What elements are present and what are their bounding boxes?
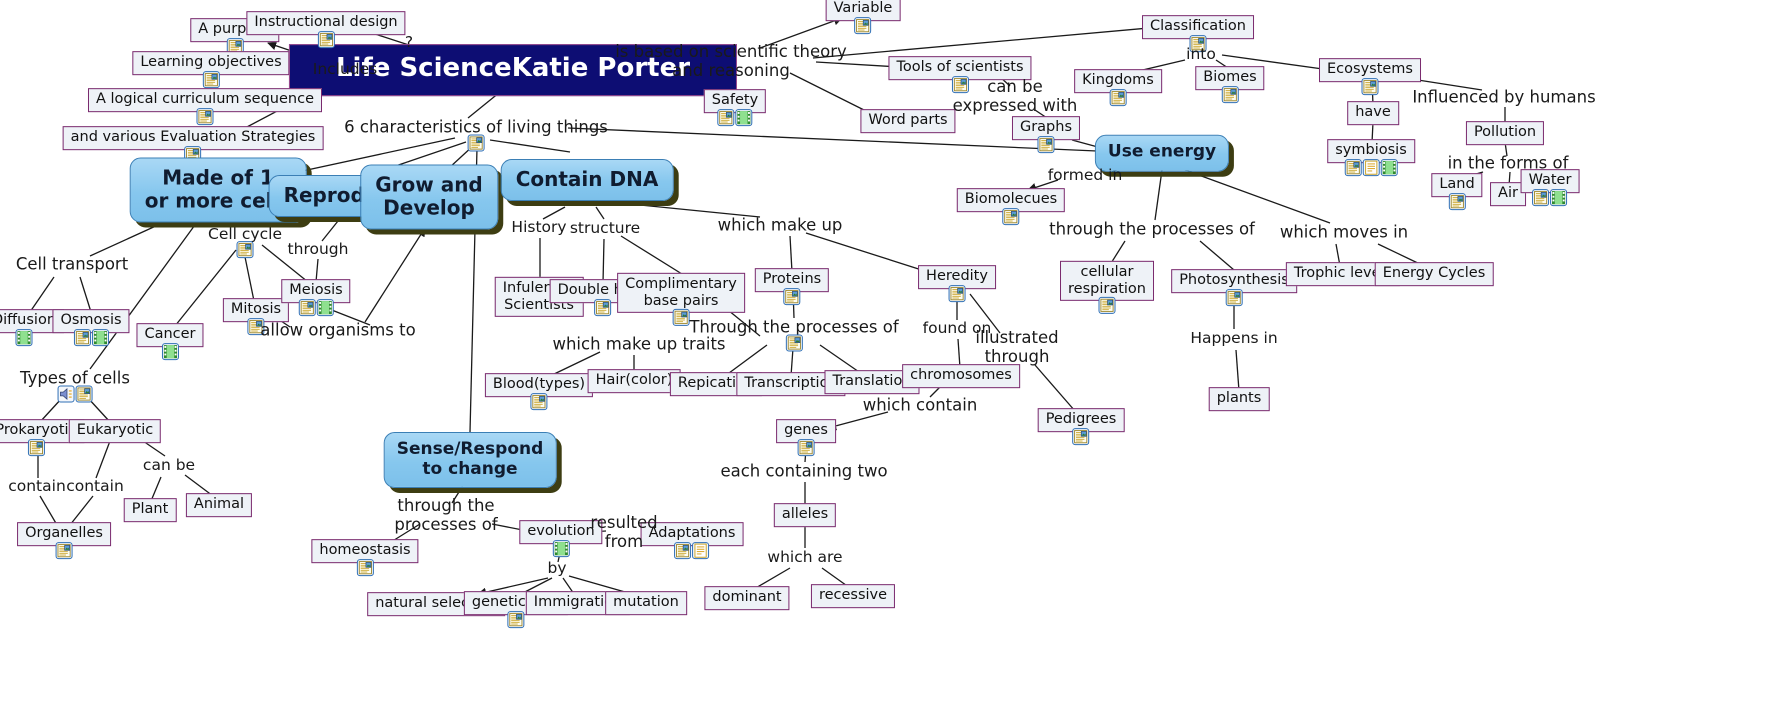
node-learning-objectives[interactable]: Learning objectives [132, 51, 289, 75]
node-label: Meiosis [289, 282, 342, 299]
node-icon-strip [27, 439, 44, 456]
node-cellular-respiration[interactable]: cellularrespiration [1060, 261, 1154, 301]
picture-note-icon[interactable] [299, 299, 316, 316]
link-phrase-which-contain[interactable]: which contain [863, 397, 978, 416]
node-icon-strip [1344, 159, 1397, 176]
film-icon[interactable] [162, 343, 179, 360]
link-phrase-cell-transport[interactable]: Cell transport [16, 256, 128, 275]
node-label: Cancer [144, 326, 195, 343]
node-label: Hair(color) [596, 372, 673, 389]
node-hair-color[interactable]: Hair(color) [588, 369, 681, 393]
phrase-label: contain [66, 478, 124, 496]
phrase-label: into [1186, 46, 1216, 64]
link-phrase-can-be-expressed[interactable]: can beexpressed with [953, 78, 1078, 116]
node-label: Energy Cycles [1383, 265, 1486, 282]
node-energy-cycles[interactable]: Energy Cycles [1375, 262, 1494, 286]
link-phrase-which-are[interactable]: which are [767, 549, 842, 567]
node-label: Classification [1150, 18, 1246, 35]
link-phrase-allow-organisms-to[interactable]: allow organisms to [260, 322, 415, 341]
node-label: symbiosis [1335, 142, 1407, 159]
node-icon-strip [73, 329, 108, 346]
node-plant[interactable]: Plant [124, 498, 177, 522]
speaker-icon[interactable] [57, 385, 74, 402]
node-label: Biomes [1203, 69, 1256, 86]
phrase-label: illustratedthrough [975, 329, 1058, 367]
link-phrase-includes[interactable]: Includes [313, 61, 378, 79]
link-phrase-in-the-forms-of[interactable]: in the forms of [1448, 155, 1569, 174]
link-phrase-happens-in[interactable]: Happens in [1190, 330, 1277, 348]
film-icon[interactable] [16, 329, 33, 346]
phrase-label: can be [143, 457, 195, 475]
node-evaluation-strategies[interactable]: and various Evaluation Strategies [63, 126, 324, 150]
picture-note-icon[interactable] [1098, 297, 1115, 314]
node-label: Variable [834, 0, 893, 17]
node-label: Blood(types) [493, 376, 585, 393]
picture-note-icon[interactable] [1226, 289, 1243, 306]
picture-note-icon[interactable] [1110, 89, 1127, 106]
edge-contain-right-to-organelles [70, 496, 93, 525]
node-eukaryotic[interactable]: Eukaryotic [69, 419, 161, 443]
node-photosynthesis[interactable]: Photosynthesis [1171, 269, 1297, 293]
node-organelles[interactable]: Organelles [17, 522, 111, 546]
node-icon-strip [553, 540, 570, 557]
node-label: have [1355, 104, 1391, 121]
phrase-label: each containing two [720, 463, 887, 482]
node-icon-strip [1098, 297, 1115, 314]
edge-cell-transport-to-osmosis [80, 277, 91, 312]
node-label: and various Evaluation Strategies [71, 129, 316, 146]
node-icon-strip [1110, 89, 1127, 106]
node-icon-strip [467, 134, 484, 151]
picture-note-icon[interactable] [531, 393, 548, 410]
phrase-label: Influenced by humans [1412, 89, 1595, 108]
node-icon-strip [595, 299, 612, 316]
node-icon-strip [57, 385, 92, 402]
link-phrase-illustrated-through[interactable]: illustratedthrough [975, 329, 1058, 367]
node-icon-strip [1073, 428, 1090, 445]
node-icon-strip [357, 559, 374, 576]
link-phrase-contain-right[interactable]: contain [66, 478, 124, 496]
picture-note-icon[interactable] [1037, 136, 1054, 153]
node-label: Photosynthesis [1179, 272, 1289, 289]
node-kingdoms[interactable]: Kingdoms [1074, 69, 1162, 93]
node-label: Animal [194, 496, 244, 513]
link-phrase-based-on-theory[interactable]: is based on scientific theoryand reasoni… [615, 43, 847, 81]
film-icon[interactable] [317, 299, 334, 316]
node-label: Diffusion [0, 312, 56, 329]
node-label: genes [784, 422, 828, 439]
edge-eukaryotic-to-can-be [143, 441, 165, 456]
node-classification[interactable]: Classification [1142, 15, 1254, 39]
node-label: mutation [613, 594, 679, 611]
node-label: Proteins [763, 271, 821, 288]
node-label: Sense/Respondto change [397, 440, 544, 479]
picture-note-icon[interactable] [1361, 78, 1378, 95]
link-phrase-influenced-by-humans[interactable]: Influenced by humans [1412, 89, 1595, 108]
picture-note-icon[interactable] [357, 559, 374, 576]
node-icon-strip [797, 439, 814, 456]
link-phrase-through[interactable]: through [288, 241, 349, 259]
link-phrase-types-of-cells[interactable]: Types of cells [20, 370, 130, 389]
node-label: Use energy [1108, 143, 1216, 163]
node-icon-strip [786, 334, 803, 351]
node-icon-strip [1361, 78, 1378, 95]
node-label: recessive [819, 587, 887, 604]
picture-note-icon[interactable] [1221, 86, 1238, 103]
phrase-label: by [547, 560, 566, 578]
phrase-label: formed in [1048, 167, 1123, 185]
node-label: cellularrespiration [1068, 264, 1146, 297]
film-icon[interactable] [1380, 159, 1397, 176]
node-label: Contain DNA [516, 168, 659, 191]
phrase-label: History [511, 219, 566, 237]
node-dominant[interactable]: dominant [704, 586, 789, 610]
picture-note-icon[interactable] [717, 109, 734, 126]
node-label: Adaptations [649, 525, 736, 542]
node-label: evolution [527, 523, 594, 540]
node-icon-strip [202, 71, 219, 88]
phrase-label: structure [570, 220, 640, 238]
node-recessive[interactable]: recessive [811, 584, 895, 608]
node-label: Heredity [926, 268, 988, 285]
link-phrase-history[interactable]: History [511, 219, 566, 237]
link-phrase-by[interactable]: by [547, 560, 566, 578]
phrase-label: through the processes of [1049, 221, 1255, 240]
picture-note-icon[interactable] [27, 439, 44, 456]
node-label: Kingdoms [1082, 72, 1154, 89]
phrase-label: Cell transport [16, 256, 128, 275]
node-biomolecues[interactable]: Biomolecues [957, 188, 1065, 212]
phrase-label: which are [767, 549, 842, 567]
phrase-label: is based on scientific theoryand reasoni… [615, 43, 847, 81]
node-icon-strip [196, 108, 213, 125]
edge-eukaryotic-to-contain-right [96, 441, 110, 478]
edge-six-characteristics-to-contain-dna [490, 140, 570, 152]
picture-note-icon[interactable] [797, 439, 814, 456]
node-sense-respond[interactable]: Sense/Respondto change [384, 432, 557, 488]
picture-note-icon[interactable] [55, 542, 72, 559]
phrase-label: which make up [718, 217, 843, 236]
link-phrase-contain-left[interactable]: contain [8, 478, 66, 496]
picture-note-icon[interactable] [1003, 208, 1020, 225]
link-phrase-each-containing-two[interactable]: each containing two [720, 463, 887, 482]
node-icon-strip [855, 17, 872, 34]
node-label: Biomolecues [965, 191, 1057, 208]
edge-use-energy-to-through-processes-of [1155, 170, 1162, 220]
phrase-label: which contain [863, 397, 978, 416]
edge-happens-in-to-plants [1236, 350, 1239, 391]
node-label: Complimentarybase pairs [625, 276, 737, 309]
node-homeostasis[interactable]: homeostasis [311, 539, 418, 563]
link-phrase-through-the-processes-of-proteins[interactable]: Through the processes of [689, 319, 898, 338]
link-phrase-cell-cycle[interactable]: Cell cycle [208, 226, 282, 244]
picture-note-icon[interactable] [507, 611, 524, 628]
node-osmosis[interactable]: Osmosis [52, 309, 129, 333]
node-label: Word parts [868, 112, 947, 129]
picture-note-icon[interactable] [672, 309, 689, 326]
node-label: Learning objectives [140, 54, 281, 71]
node-chromosomes[interactable]: chromosomes [902, 364, 1020, 388]
link-phrase-through-processes-of[interactable]: through the processes of [1049, 221, 1255, 240]
node-icon-strip [1448, 193, 1465, 210]
node-label: Water [1529, 172, 1572, 189]
node-label: A logical curriculum sequence [96, 91, 314, 108]
picture-note-icon[interactable] [786, 334, 803, 351]
node-icon-strip [162, 343, 179, 360]
node-label: chromosomes [910, 367, 1012, 384]
edge-cell-transport-to-diffusion [30, 277, 54, 312]
link-phrase-q-mark[interactable]: ? [405, 34, 413, 52]
edge-cell-cycle-to-mitosis [244, 252, 254, 301]
edge-contain-left-to-organelles [40, 496, 57, 525]
picture-note-icon[interactable] [595, 299, 612, 316]
link-phrase-which-make-up-traits[interactable]: which make up traits [552, 336, 725, 355]
node-icon-strip [783, 288, 800, 305]
concept-map-canvas: Life ScienceKatie PorterA purposeInstruc… [0, 0, 1788, 717]
node-icon-strip [1003, 208, 1020, 225]
picture-note-icon[interactable] [1344, 159, 1361, 176]
link-phrase-structure[interactable]: structure [570, 220, 640, 238]
edge-reproduce-to-through [322, 221, 338, 241]
node-label: Tools of scientists [896, 59, 1023, 76]
picture-note-icon[interactable] [75, 385, 92, 402]
node-icon-strip [717, 109, 752, 126]
node-icon-strip [16, 329, 33, 346]
edge-illustrated-through-to-pedigrees [1035, 365, 1075, 411]
edge-which-make-up-to-proteins [790, 236, 792, 272]
node-instructional-design[interactable]: Instructional design [246, 11, 405, 35]
picture-note-icon[interactable] [1533, 189, 1550, 206]
node-symbiosis[interactable]: symbiosis [1327, 139, 1415, 163]
node-label: Mitosis [231, 301, 281, 318]
node-heredity[interactable]: Heredity [918, 265, 996, 289]
phrase-label: in the forms of [1448, 155, 1569, 174]
picture-note-icon[interactable] [855, 17, 872, 34]
picture-note-icon[interactable] [202, 71, 219, 88]
node-icon-strip [531, 393, 548, 410]
node-biomes[interactable]: Biomes [1195, 66, 1264, 90]
edge-through-processes-of-to-photosynthesis [1200, 241, 1234, 270]
edge-structure-to-double-helix [603, 239, 604, 283]
phrase-label: through [288, 241, 349, 259]
node-icon-strip [299, 299, 334, 316]
node-graphs[interactable]: Graphs [1012, 116, 1080, 140]
link-phrase-into[interactable]: into [1186, 46, 1216, 64]
node-have[interactable]: have [1347, 101, 1399, 125]
node-icon-strip [507, 611, 524, 628]
node-icon-strip [672, 309, 689, 326]
phrase-label: contain [8, 478, 66, 496]
phrase-label: ? [405, 34, 413, 52]
node-pollution[interactable]: Pollution [1466, 121, 1544, 145]
picture-note-icon[interactable] [783, 288, 800, 305]
node-label: Air [1498, 185, 1518, 202]
node-icon-strip [1533, 189, 1568, 206]
node-safety[interactable]: Safety [704, 89, 766, 113]
node-meiosis[interactable]: Meiosis [281, 279, 350, 303]
node-label: Graphs [1020, 119, 1072, 136]
film-icon[interactable] [553, 540, 570, 557]
node-animal[interactable]: Animal [186, 493, 252, 517]
picture-note-icon[interactable] [1073, 428, 1090, 445]
node-icon-strip [317, 31, 334, 48]
picture-note-icon[interactable] [237, 241, 254, 258]
node-label: Safety [712, 92, 758, 109]
node-label: Pedigrees [1046, 411, 1117, 428]
phrase-label: can beexpressed with [953, 78, 1078, 116]
phrase-label: which make up traits [552, 336, 725, 355]
link-phrase-resulted-from[interactable]: resultedfrom [590, 514, 657, 552]
node-pedigrees[interactable]: Pedigrees [1038, 408, 1125, 432]
phrase-label: Happens in [1190, 330, 1277, 348]
node-ecosystems[interactable]: Ecosystems [1319, 58, 1421, 82]
node-label: Translation [832, 373, 911, 390]
picture-note-icon[interactable] [73, 329, 90, 346]
node-label: Eukaryotic [77, 422, 153, 439]
text-note-icon[interactable] [1362, 159, 1379, 176]
node-icon-strip [948, 285, 965, 302]
node-label: Prokaryotic [0, 422, 77, 439]
node-label: Plant [132, 501, 169, 518]
node-plants[interactable]: plants [1209, 387, 1270, 411]
picture-note-icon[interactable] [674, 542, 691, 559]
node-icon-strip [55, 542, 72, 559]
node-label: Grow andDevelop [375, 174, 483, 220]
edge-contain-dna-to-structure [596, 207, 604, 219]
link-phrase-six-characteristics[interactable]: 6 characteristics of living things [344, 119, 608, 138]
text-note-icon[interactable] [692, 542, 709, 559]
node-label: Ecosystems [1327, 61, 1413, 78]
node-icon-strip [237, 241, 254, 258]
node-label: dominant [712, 589, 781, 606]
picture-note-icon[interactable] [196, 108, 213, 125]
node-icon-strip [674, 542, 709, 559]
node-cancer[interactable]: Cancer [136, 323, 203, 347]
phrase-label: through theprocesses of [394, 497, 497, 535]
phrase-label: which moves in [1280, 224, 1408, 243]
phrase-label: allow organisms to [260, 322, 415, 341]
node-logical-curriculum[interactable]: A logical curriculum sequence [88, 88, 322, 112]
node-mutation[interactable]: mutation [605, 591, 687, 615]
link-phrase-which-moves-in[interactable]: which moves in [1280, 224, 1408, 243]
node-label: Instructional design [254, 14, 397, 31]
node-complimentary-base-pairs[interactable]: Complimentarybase pairs [617, 273, 745, 313]
picture-note-icon[interactable] [317, 31, 334, 48]
link-phrase-through-the-processes-of-sense[interactable]: through theprocesses of [394, 497, 497, 535]
picture-note-icon[interactable] [1448, 193, 1465, 210]
node-label: Osmosis [60, 312, 121, 329]
link-phrase-can-be[interactable]: can be [143, 457, 195, 475]
edge-allow-organisms-to-to-grow-and-develop [365, 228, 425, 322]
node-variable[interactable]: Variable [826, 0, 901, 21]
node-label: plants [1217, 390, 1262, 407]
node-label: homeostasis [319, 542, 410, 559]
film-icon[interactable] [1551, 189, 1568, 206]
node-blood-types[interactable]: Blood(types) [485, 373, 593, 397]
node-icon-strip [1221, 86, 1238, 103]
film-icon[interactable] [735, 109, 752, 126]
node-label: Pollution [1474, 124, 1536, 141]
node-label: Land [1439, 176, 1474, 193]
node-label: alleles [782, 506, 828, 523]
link-phrase-which-make-up[interactable]: which make up [718, 217, 843, 236]
node-contain-dna[interactable]: Contain DNA [501, 159, 674, 201]
node-proteins[interactable]: Proteins [755, 268, 829, 292]
node-word-parts[interactable]: Word parts [860, 109, 955, 133]
picture-note-icon[interactable] [948, 285, 965, 302]
phrase-label: resultedfrom [590, 514, 657, 552]
node-alleles[interactable]: alleles [774, 503, 836, 527]
node-mitosis[interactable]: Mitosis [223, 298, 289, 322]
node-grow-and-develop[interactable]: Grow andDevelop [360, 165, 498, 230]
node-icon-strip [1226, 289, 1243, 306]
picture-note-icon[interactable] [467, 134, 484, 151]
film-icon[interactable] [91, 329, 108, 346]
edge-which-make-up-to-heredity [806, 233, 928, 272]
node-land[interactable]: Land [1431, 173, 1482, 197]
node-icon-strip [1037, 136, 1054, 153]
phrase-label: Includes [313, 61, 378, 79]
node-label: Organelles [25, 525, 103, 542]
link-phrase-formed-in[interactable]: formed in [1048, 167, 1123, 185]
node-genes[interactable]: genes [776, 419, 836, 443]
edge-use-energy-to-which-moves-in [1185, 170, 1330, 223]
